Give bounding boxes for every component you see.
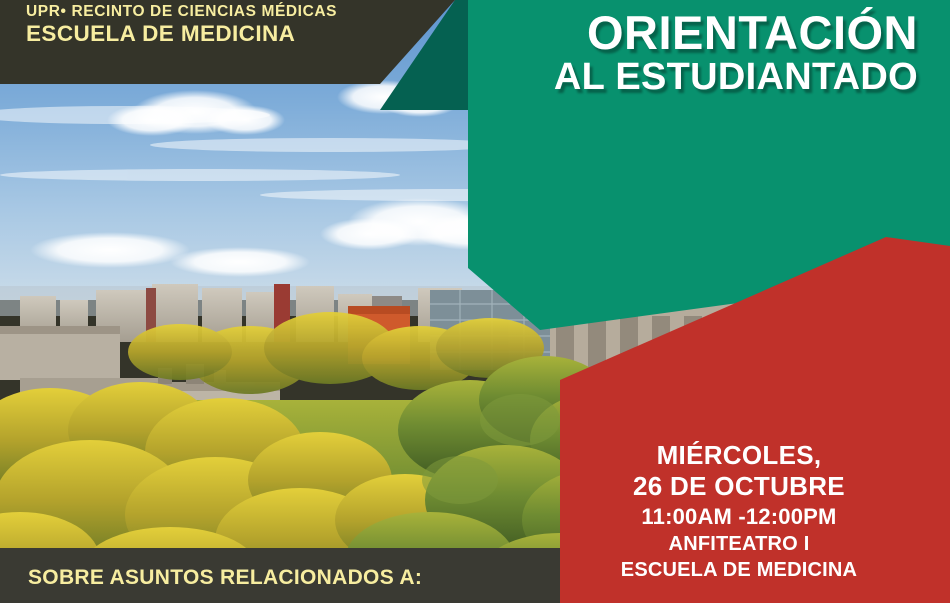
title-text-group: ORIENTACIÓN AL ESTUDIANTADO bbox=[0, 0, 950, 96]
event-date: 26 DE OCTUBRE bbox=[574, 472, 904, 500]
event-details-group: MIÉRCOLES, 26 DE OCTUBRE 11:00AM -12:00P… bbox=[574, 441, 904, 581]
event-venue-school: ESCUELA DE MEDICINA bbox=[574, 560, 904, 582]
footer-topic-line: SOBRE ASUNTOS RELACIONADOS A: bbox=[28, 566, 422, 590]
event-time: 11:00AM -12:00PM bbox=[574, 505, 904, 529]
event-day: MIÉRCOLES, bbox=[574, 441, 904, 469]
orientation-poster: UPR• RECINTO DE CIENCIAS MÉDICAS ESCUELA… bbox=[0, 0, 950, 603]
title-line-1: ORIENTACIÓN bbox=[0, 10, 918, 56]
title-line-2: AL ESTUDIANTADO bbox=[0, 58, 918, 96]
event-venue: ANFITEATRO I bbox=[574, 534, 904, 556]
